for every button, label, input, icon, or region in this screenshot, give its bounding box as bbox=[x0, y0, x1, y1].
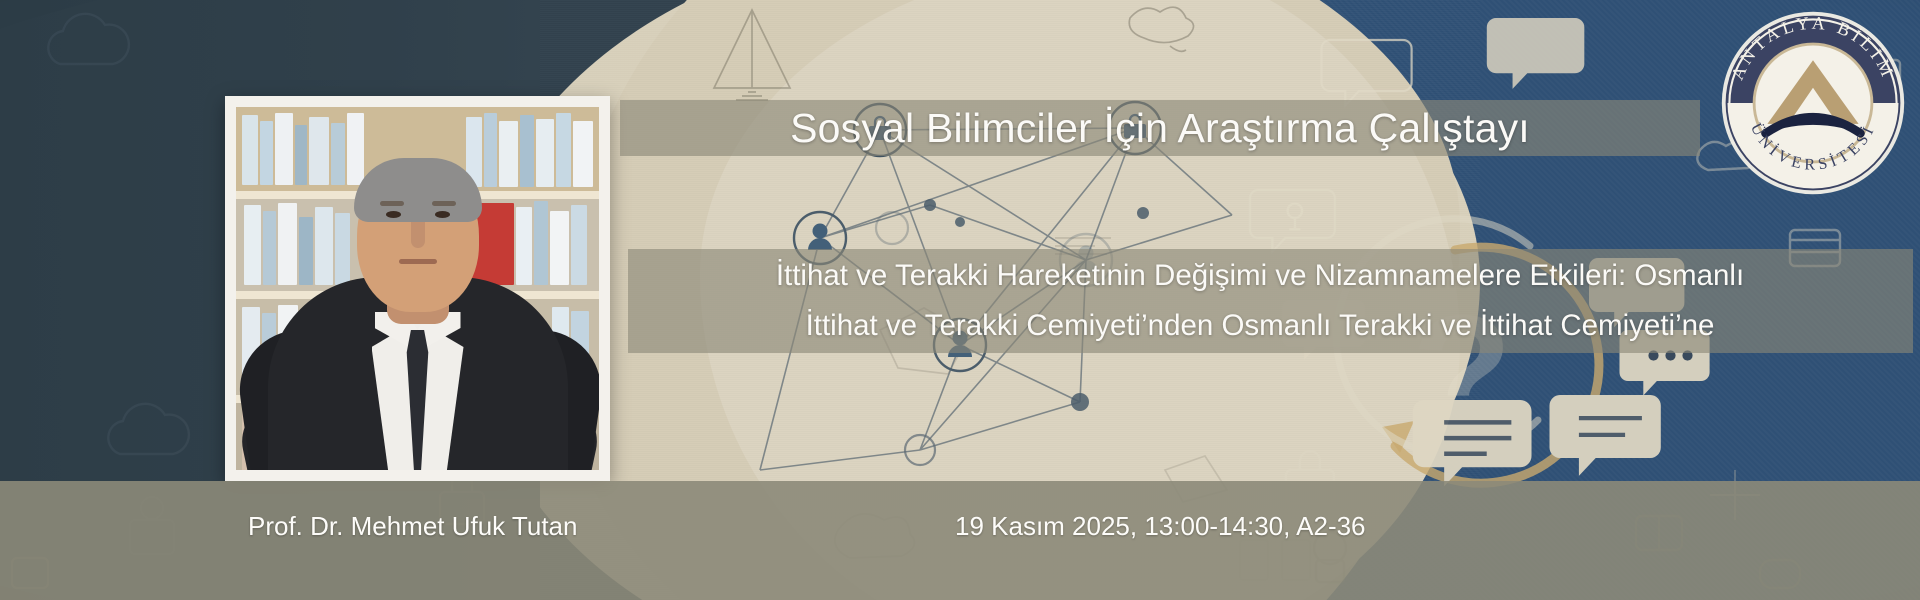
speaker-name: Prof. Dr. Mehmet Ufuk Tutan bbox=[248, 511, 577, 542]
talk-subtitle: İttihat ve Terakki Hareketinin Değişimi … bbox=[600, 247, 1920, 355]
event-poster: ? bbox=[0, 0, 1920, 600]
speaker-photo bbox=[236, 107, 599, 470]
university-logo: ANTALYA BİLİM ÜNİVERSİTESİ bbox=[1718, 8, 1908, 198]
talk-subtitle-line-2: İttihat ve Terakki Cemiyeti’nden Osmanlı… bbox=[806, 301, 1715, 351]
event-datetime-location: 19 Kasım 2025, 13:00-14:30, A2-36 bbox=[955, 511, 1366, 542]
speaker-photo-card bbox=[225, 96, 610, 481]
talk-subtitle-line-1: İttihat ve Terakki Hareketinin Değişimi … bbox=[776, 251, 1744, 301]
page-title: Sosyal Bilimciler İçin Araştırma Çalışta… bbox=[620, 98, 1700, 158]
